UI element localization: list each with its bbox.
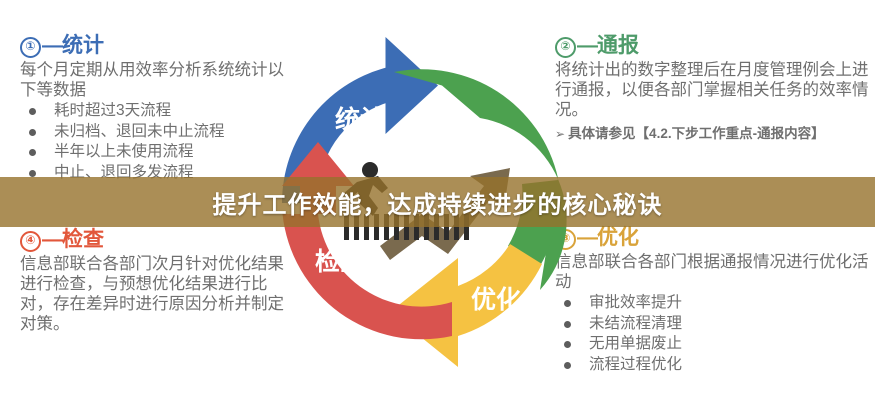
list-item: 半年以上未使用流程 — [20, 142, 285, 163]
section-tongbao: ②—通报 将统计出的数字整理后在月度管理例会上进行通报，以便各部门掌握相关任务的… — [555, 34, 875, 142]
section-3-body: 信息部联合各部门根据通报情况进行优化活动 — [555, 252, 875, 292]
section-2-heading: ②—通报 — [555, 34, 875, 58]
section-2-reference: ➢具体请参见【4.2.下步工作重点-通报内容】 — [555, 122, 875, 142]
section-3-bullet-list: 审批效率提升 未结流程清理 无用单据废止 流程过程优化 — [555, 293, 875, 375]
slide-canvas: ①—统计 每个月定期从用效率分析系统统计以下等数据 耗时超过3天流程 未归档、退… — [0, 0, 875, 400]
section-2-reference-text: 具体请参见【4.2.下步工作重点-通报内容】 — [568, 126, 825, 141]
list-item: 无用单据废止 — [555, 334, 875, 355]
list-item: 未结流程清理 — [555, 314, 875, 335]
overlay-banner-text: 提升工作效能，达成持续进步的核心秘诀 — [213, 185, 663, 220]
section-4-heading: ④—检查 — [20, 228, 288, 252]
list-item: 流程过程优化 — [555, 355, 875, 376]
section-4-body: 信息部联合各部门次月针对优化结果进行检查，与预想优化结果进行比对，存在差异时进行… — [20, 254, 288, 335]
section-youhua: ③—优化 信息部联合各部门根据通报情况进行优化活动 审批效率提升 未结流程清理 … — [555, 226, 875, 376]
section-3-heading: ③—优化 — [555, 226, 875, 250]
section-2-title: 通报 — [597, 34, 639, 57]
section-4-dash: — — [42, 228, 62, 251]
section-4-title: 检查 — [62, 228, 104, 251]
section-1-dash: — — [42, 34, 62, 57]
section-4-number: ④ — [20, 231, 41, 252]
list-item: 耗时超过3天流程 — [20, 101, 285, 122]
section-1-heading: ①—统计 — [20, 34, 285, 58]
list-item: 未归档、退回未中止流程 — [20, 122, 285, 143]
section-jiancha: ④—检查 信息部联合各部门次月针对优化结果进行检查，与预想优化结果进行比对，存在… — [20, 228, 288, 335]
cycle-label-jiancha: 检查 — [315, 247, 365, 276]
section-tongji: ①—统计 每个月定期从用效率分析系统统计以下等数据 耗时超过3天流程 未归档、退… — [20, 34, 285, 184]
cycle-label-tongji: 统计 — [335, 105, 385, 134]
cycle-label-youhua: 优化 — [471, 286, 521, 314]
section-2-body: 将统计出的数字整理后在月度管理例会上进行通报，以便各部门掌握相关任务的效率情况。 — [555, 60, 875, 120]
list-item: 审批效率提升 — [555, 293, 875, 314]
section-1-bullet-list: 耗时超过3天流程 未归档、退回未中止流程 半年以上未使用流程 中止、退回多发流程 — [20, 101, 285, 183]
section-1-body: 每个月定期从用效率分析系统统计以下等数据 — [20, 60, 285, 100]
section-2-dash: — — [577, 34, 597, 57]
section-1-number: ① — [20, 37, 41, 58]
overlay-banner: 提升工作效能，达成持续进步的核心秘诀 — [0, 177, 875, 227]
section-1-title: 统计 — [62, 34, 104, 57]
section-3-dash: — — [577, 226, 597, 249]
section-3-title: 优化 — [597, 226, 639, 249]
